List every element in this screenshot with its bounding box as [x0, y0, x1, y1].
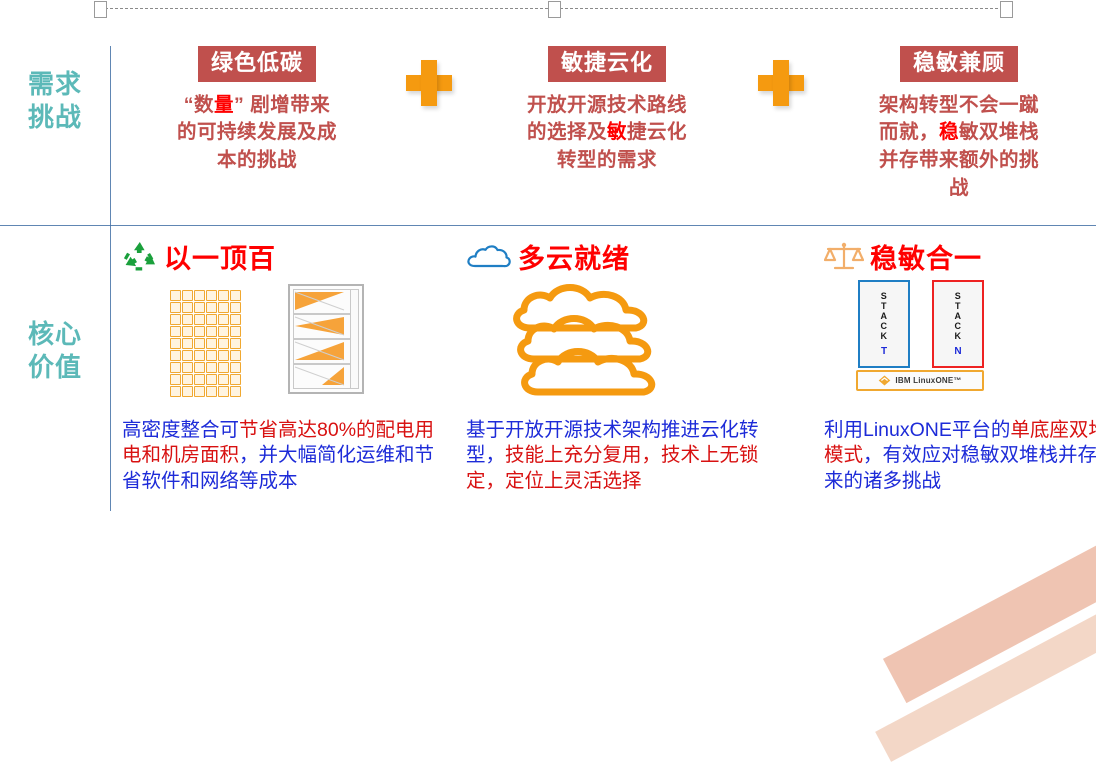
server-unit-icon	[194, 362, 205, 373]
server-unit-icon	[218, 326, 229, 337]
value-heading: 多云就绪	[466, 236, 786, 276]
value-column-one-replaces-hundred[interactable]: 以一顶百	[122, 236, 442, 494]
challenge-card-green-low-carbon[interactable]: 绿色低碳 “数量” 剧增带来的可持续发展及成本的挑战	[164, 46, 350, 175]
balance-scale-icon	[824, 240, 864, 272]
server-unit-icon	[218, 314, 229, 325]
server-unit-icon	[182, 362, 193, 373]
value-column-multicloud-ready[interactable]: 多云就绪 基于开放开源技术架构推进云化转型，技能上充分复用，技术上无锁定，定位上…	[466, 236, 786, 494]
rack-frame	[288, 284, 364, 394]
server-unit-icon	[230, 374, 241, 385]
selection-handle-left[interactable]	[94, 1, 107, 18]
server-unit-icon	[206, 302, 217, 313]
server-unit-icon	[218, 302, 229, 313]
server-unit-icon	[170, 338, 181, 349]
server-unit-icon	[230, 326, 241, 337]
challenge-card-agile-cloud[interactable]: 敏捷云化 开放开源技术路线的选择及敏捷云化转型的需求	[514, 46, 700, 175]
selection-handle-right[interactable]	[1000, 1, 1013, 18]
server-unit-icon	[182, 374, 193, 385]
server-unit-icon	[182, 314, 193, 325]
server-unit-icon	[218, 386, 229, 397]
server-grid	[170, 290, 241, 397]
server-unit-icon	[206, 326, 217, 337]
server-unit-icon	[170, 290, 181, 301]
value-title: 多云就绪	[518, 237, 630, 276]
linuxone-platform-bar: IBM LinuxONE™	[856, 370, 984, 391]
server-unit-icon	[230, 386, 241, 397]
rail-label-core-value: 核心价值	[22, 318, 88, 385]
value-heading: 以一顶百	[122, 236, 442, 276]
value-description: 利用LinuxONE平台的单底座双堆栈模式，有效应对稳敏双堆栈并存期带来的诸多挑…	[824, 418, 1096, 494]
server-unit-icon	[170, 314, 181, 325]
server-unit-icon	[182, 386, 193, 397]
server-unit-icon	[182, 326, 193, 337]
server-unit-icon	[206, 386, 217, 397]
linuxone-platform-label: IBM LinuxONE™	[895, 376, 961, 385]
selection-handle-middle[interactable]	[548, 1, 561, 18]
value-description: 基于开放开源技术架构推进云化转型，技能上充分复用，技术上无锁定，定位上灵活选择	[466, 418, 786, 494]
rack-bay	[293, 339, 351, 364]
three-clouds-art	[466, 280, 786, 410]
server-unit-icon	[230, 290, 241, 301]
server-unit-icon	[170, 326, 181, 337]
server-unit-icon	[170, 350, 181, 361]
challenge-card-body: “数量” 剧增带来的可持续发展及成本的挑战	[164, 92, 350, 175]
challenge-card-header: 稳敏兼顾	[900, 46, 1018, 82]
server-unit-icon	[182, 302, 193, 313]
value-title: 稳敏合一	[870, 237, 982, 276]
server-unit-icon	[170, 386, 181, 397]
server-unit-icon	[206, 314, 217, 325]
challenge-card-body: 开放开源技术路线的选择及敏捷云化转型的需求	[514, 92, 700, 175]
server-unit-icon	[194, 326, 205, 337]
challenge-card-header: 敏捷云化	[548, 46, 666, 82]
server-unit-icon	[194, 314, 205, 325]
server-unit-icon	[194, 338, 205, 349]
server-unit-icon	[194, 374, 205, 385]
rack-bay	[293, 364, 351, 389]
server-unit-icon	[206, 350, 217, 361]
horizontal-divider	[0, 225, 1096, 226]
rack-bay	[293, 289, 351, 314]
server-unit-icon	[218, 350, 229, 361]
server-unit-icon	[230, 338, 241, 349]
linuxone-logo-icon	[878, 375, 891, 386]
server-unit-icon	[182, 290, 193, 301]
challenge-card-header: 绿色低碳	[198, 46, 316, 82]
stack-t-tag: T	[881, 346, 887, 357]
server-unit-icon	[206, 338, 217, 349]
plus-icon	[406, 60, 452, 106]
server-unit-icon	[194, 290, 205, 301]
core-values-row: 以一顶百	[110, 236, 1096, 511]
value-heading: 稳敏合一	[824, 236, 1096, 276]
server-consolidation-art	[122, 280, 442, 410]
stack-n-tag: N	[954, 346, 961, 357]
cloud-icon	[466, 241, 512, 271]
challenges-row: 绿色低碳 “数量” 剧增带来的可持续发展及成本的挑战 敏捷云化 开放开源技术路线…	[110, 46, 1096, 222]
stack-t-label: STACK	[881, 291, 888, 341]
challenge-card-body: 架构转型不会一蹴而就，稳敏双堆栈并存带来额外的挑战	[866, 92, 1052, 203]
value-title: 以一顶百	[164, 237, 276, 276]
stack-box-n: STACK N	[932, 280, 984, 368]
plus-icon-vertical-bar	[421, 60, 437, 106]
server-unit-icon	[194, 386, 205, 397]
server-unit-icon	[194, 350, 205, 361]
server-unit-icon	[170, 362, 181, 373]
rack-bay	[293, 314, 351, 339]
server-unit-icon	[230, 314, 241, 325]
server-unit-icon	[218, 362, 229, 373]
server-unit-icon	[206, 290, 217, 301]
stack-box-t: STACK T	[858, 280, 910, 368]
server-unit-icon	[218, 338, 229, 349]
server-unit-icon	[182, 350, 193, 361]
server-unit-icon	[182, 338, 193, 349]
server-unit-icon	[230, 362, 241, 373]
server-unit-icon	[170, 374, 181, 385]
server-unit-icon	[206, 374, 217, 385]
server-unit-icon	[206, 362, 217, 373]
value-description: 高密度整合可节省高达80%的配电用电和机房面积，并大幅简化运维和节省软件和网络等…	[122, 418, 442, 494]
server-unit-icon	[218, 374, 229, 385]
server-unit-icon	[230, 302, 241, 313]
challenge-card-stable-agile[interactable]: 稳敏兼顾 架构转型不会一蹴而就，稳敏双堆栈并存带来额外的挑战	[866, 46, 1052, 202]
server-unit-icon	[230, 350, 241, 361]
dual-stack-art: STACK T STACK N IBM LinuxONE™	[824, 280, 1096, 410]
server-unit-icon	[194, 302, 205, 313]
rail-label-challenges: 需求挑战	[22, 68, 88, 135]
server-unit-icon	[218, 290, 229, 301]
stack-n-label: STACK	[955, 291, 962, 341]
value-column-stable-agile-unified[interactable]: 稳敏合一 STACK T STACK N IBM LinuxONE™	[824, 236, 1096, 494]
server-unit-icon	[170, 302, 181, 313]
recycle-icon	[122, 240, 158, 273]
plus-icon-vertical-bar	[773, 60, 789, 106]
plus-icon	[758, 60, 804, 106]
cloud-stack-illustration	[504, 280, 690, 409]
